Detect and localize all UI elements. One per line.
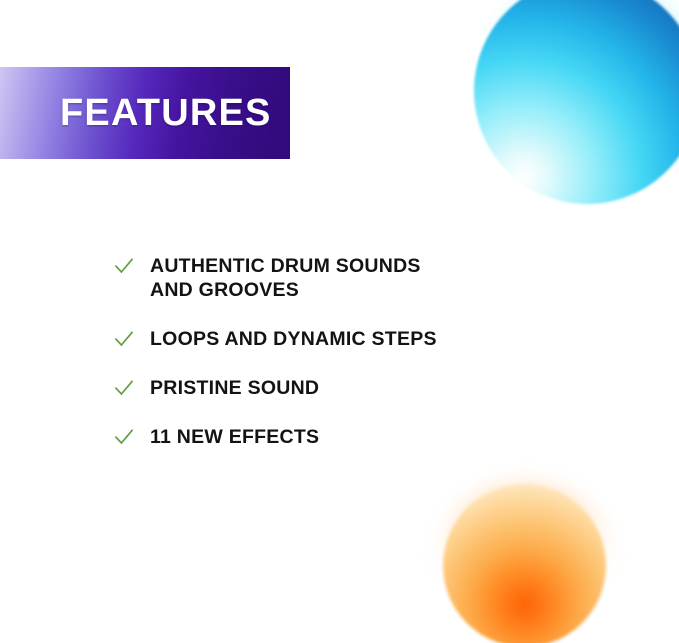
feature-list: AUTHENTIC DRUM SOUNDS AND GROOVES LOOPS …	[113, 254, 553, 449]
blue-gradient-circle	[474, 0, 679, 204]
list-item: 11 NEW EFFECTS	[113, 425, 553, 449]
check-icon	[113, 328, 135, 350]
check-icon	[113, 255, 135, 277]
features-banner: FEATURES	[0, 67, 290, 159]
list-item: LOOPS AND DYNAMIC STEPS	[113, 327, 553, 351]
orange-gradient-circle	[443, 484, 606, 643]
list-item: PRISTINE SOUND	[113, 376, 553, 400]
feature-label: AUTHENTIC DRUM SOUNDS AND GROOVES	[150, 254, 553, 302]
features-slide: FEATURES AUTHENTIC DRUM SOUNDS AND GROOV…	[0, 0, 679, 643]
list-item: AUTHENTIC DRUM SOUNDS AND GROOVES	[113, 254, 553, 302]
feature-label: PRISTINE SOUND	[150, 376, 553, 400]
features-banner-title: FEATURES	[60, 94, 272, 132]
check-icon	[113, 426, 135, 448]
blue-gradient-circle-glow	[468, 0, 679, 210]
feature-label: 11 NEW EFFECTS	[150, 425, 553, 449]
orange-gradient-circle-glow	[436, 477, 614, 643]
feature-label: LOOPS AND DYNAMIC STEPS	[150, 327, 553, 351]
check-icon	[113, 377, 135, 399]
